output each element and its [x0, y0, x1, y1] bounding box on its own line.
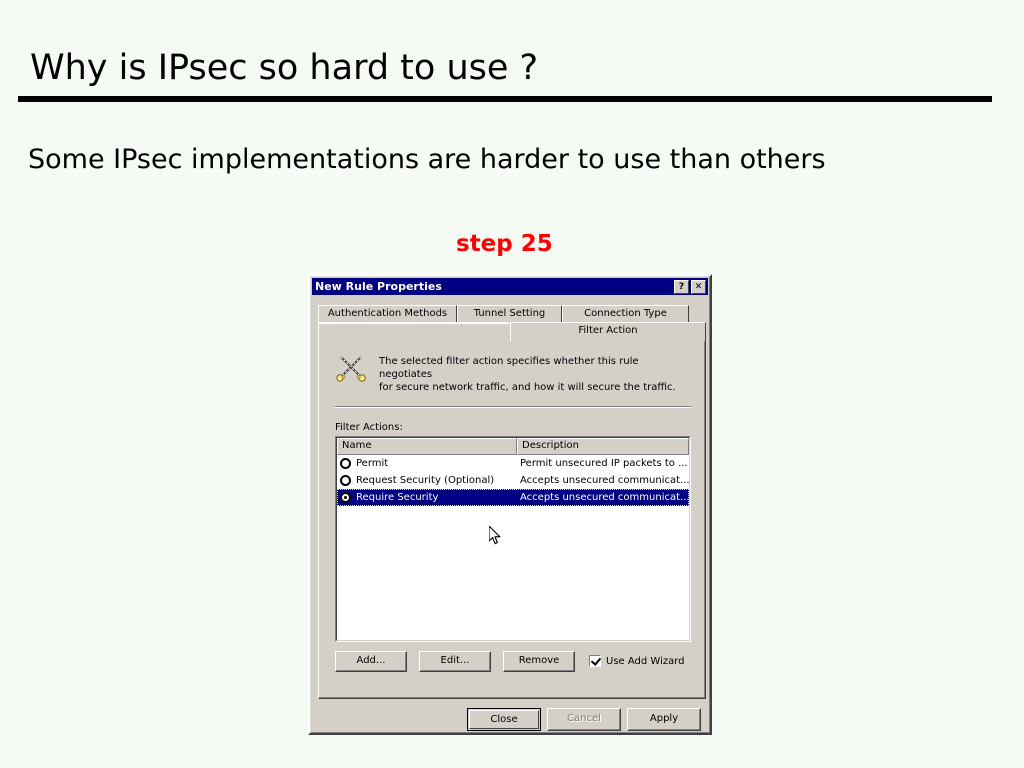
table-row[interactable]: Permit Permit unsecured IP packets to ..… [337, 455, 689, 472]
description-block: The selected filter action specifies whe… [335, 352, 691, 394]
tab-connection-type[interactable]: Connection Type [562, 305, 689, 323]
filter-actions-label: Filter Actions: [335, 422, 403, 433]
add-button-label: Add... [357, 655, 386, 666]
tab-filter-action[interactable]: Filter Action [510, 322, 706, 341]
help-icon[interactable]: ? [674, 280, 689, 294]
apply-button-label: Apply [650, 713, 678, 724]
row-description-cell: Accepts unsecured communicat... [517, 492, 689, 503]
action-button-row: Add... Edit... Remove Use Add Wizard [335, 650, 691, 672]
description-line-2: for secure network traffic, and how it w… [379, 381, 691, 394]
radio-icon[interactable] [340, 475, 351, 486]
cancel-button-label: Cancel [567, 713, 601, 724]
tab-tunnel-setting[interactable]: Tunnel Setting [457, 305, 562, 323]
page-title: Why is IPsec so hard to use ? [30, 48, 538, 88]
row-name-cell: Request Security (Optional) [337, 475, 517, 486]
listview-inner: Name Description Permit Permit unsecured… [336, 437, 690, 641]
row-name-text: Require Security [356, 492, 438, 503]
close-icon[interactable]: ✕ [691, 280, 706, 294]
dialog-title-text: New Rule Properties [315, 280, 672, 293]
add-button[interactable]: Add... [335, 651, 407, 672]
crossed-keys-icon [335, 352, 367, 384]
footer-button-row: Close Cancel Apply [467, 708, 707, 732]
section-divider [335, 406, 691, 408]
column-header-description[interactable]: Description [517, 438, 689, 455]
row-name-text: Request Security (Optional) [356, 475, 494, 486]
close-button[interactable]: Close [467, 708, 541, 731]
row-name-cell: Require Security [337, 492, 517, 503]
use-add-wizard-checkbox[interactable]: Use Add Wizard [589, 655, 685, 667]
description-line-1: The selected filter action specifies whe… [379, 355, 691, 381]
row-description-cell: Accepts unsecured communicat... [517, 475, 689, 486]
slide-subtitle: Some IPsec implementations are harder to… [28, 144, 826, 175]
checkbox-icon[interactable] [589, 655, 601, 667]
row-description-cell: Permit unsecured IP packets to ... [517, 458, 689, 469]
step-annotation: step 25 [456, 231, 553, 257]
table-row[interactable]: Request Security (Optional) Accepts unse… [337, 472, 689, 489]
listview-header: Name Description [337, 438, 689, 455]
filter-actions-listview[interactable]: Name Description Permit Permit unsecured… [335, 436, 691, 642]
edit-button[interactable]: Edit... [419, 651, 491, 672]
column-header-name[interactable]: Name [337, 438, 517, 455]
table-row-selected[interactable]: Require Security Accepts unsecured commu… [337, 489, 689, 506]
description-text: The selected filter action specifies whe… [379, 352, 691, 394]
radio-icon-selected[interactable] [340, 492, 351, 503]
cancel-button: Cancel [547, 708, 621, 731]
row-name-cell: Permit [337, 458, 517, 469]
dialog-titlebar[interactable]: New Rule Properties ? ✕ [312, 278, 708, 295]
tab-authentication-methods[interactable]: Authentication Methods [318, 305, 457, 323]
row-name-text: Permit [356, 458, 388, 469]
new-rule-properties-dialog: New Rule Properties ? ✕ Authentication M… [308, 274, 712, 735]
close-button-label: Close [468, 710, 540, 730]
remove-button[interactable]: Remove [503, 651, 575, 672]
use-add-wizard-label: Use Add Wizard [606, 656, 685, 667]
edit-button-label: Edit... [441, 655, 470, 666]
apply-button[interactable]: Apply [627, 708, 701, 731]
remove-button-label: Remove [519, 655, 560, 666]
tab-page-filter-action: The selected filter action specifies whe… [318, 323, 706, 699]
title-divider [18, 96, 992, 102]
radio-icon[interactable] [340, 458, 351, 469]
tab-row-top: Authentication Methods Tunnel Setting Co… [318, 305, 706, 323]
